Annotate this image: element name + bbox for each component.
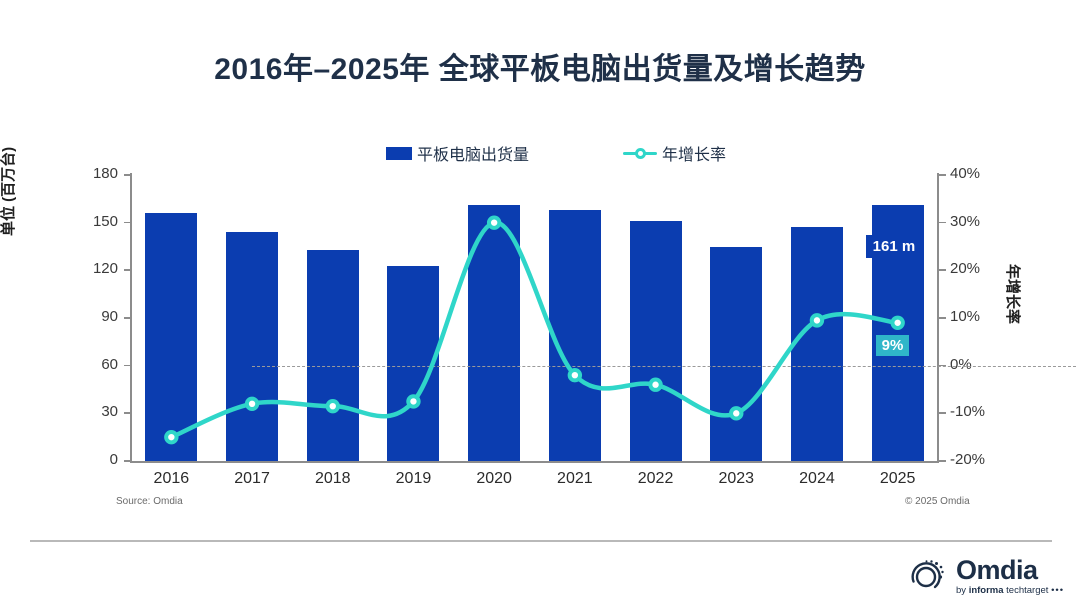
- y-axis-right-tick: [939, 317, 946, 319]
- omdia-logo: Omdia by informa techtarget •••: [905, 552, 1064, 600]
- y-axis-left-title: 单位 (百万台): [0, 147, 18, 236]
- growth-point-2019[interactable]: 2019: -7.5%: [408, 396, 418, 406]
- x-axis-tick-label-2018: 2018: [288, 470, 378, 488]
- y-axis-right-tick: [939, 412, 946, 414]
- chart-page: 2016年–2025年 全球平板电脑出货量及增长趋势 平板电脑出货量 年增长率 …: [0, 0, 1080, 608]
- x-axis-tick-label-2016: 2016: [126, 470, 216, 488]
- growth-point-2020[interactable]: 2020: 30%: [489, 217, 499, 227]
- y-axis-right-tick-label: 20%: [950, 260, 1020, 277]
- y-axis-right-tick: [939, 222, 946, 224]
- growth-point-2017[interactable]: 2017: -8%: [247, 399, 257, 409]
- bar-value-label-2025: 161 m: [866, 235, 923, 258]
- legend-line-swatch-icon: [623, 146, 657, 160]
- x-axis-tick-label-2017: 2017: [207, 470, 297, 488]
- legend-bar-swatch-icon: [386, 147, 412, 160]
- y-axis-left-tick: [124, 317, 131, 319]
- x-axis-tick-label-2025: 2025: [853, 470, 943, 488]
- growth-value-label-2025: 9%: [876, 335, 910, 356]
- y-axis-right-tick-label: -20%: [950, 451, 1020, 468]
- y-axis-left-tick: [124, 365, 131, 367]
- y-axis-left-tick-label: 60: [58, 356, 118, 373]
- legend-item-growth: 年增长率: [623, 141, 726, 165]
- legend-item-shipments: 平板电脑出货量: [386, 141, 529, 165]
- growth-point-2022[interactable]: 2022: -4%: [650, 380, 660, 390]
- y-axis-left-tick-label: 0: [58, 451, 118, 468]
- y-axis-left-tick: [124, 174, 131, 176]
- chart-legend: 平板电脑出货量 年增长率: [386, 140, 806, 166]
- x-axis-tick-label-2019: 2019: [368, 470, 458, 488]
- legend-label-growth: 年增长率: [662, 141, 726, 165]
- growth-point-2018[interactable]: 2018: -8.5%: [328, 401, 338, 411]
- growth-line-layer: 2016: -15%2017: -8%2018: -8.5%2019: -7.5…: [131, 175, 938, 461]
- growth-rate-line: [171, 223, 897, 438]
- omdia-mark-icon: [905, 554, 949, 598]
- y-axis-right-tick-label: 0%: [950, 356, 1020, 373]
- y-axis-right-tick-label: -10%: [950, 403, 1020, 420]
- growth-point-2025[interactable]: 2025: 9%: [892, 318, 902, 328]
- footer-divider: [30, 540, 1052, 542]
- omdia-logo-text: Omdia by informa techtarget •••: [956, 557, 1064, 596]
- x-axis-tick-label-2020: 2020: [449, 470, 539, 488]
- growth-point-2024[interactable]: 2024: 9.5%: [812, 315, 822, 325]
- y-axis-left-tick-label: 120: [58, 260, 118, 277]
- y-axis-left-tick-label: 150: [58, 213, 118, 230]
- y-axis-left-tick: [124, 412, 131, 414]
- y-axis-right-tick: [939, 460, 946, 462]
- growth-point-2021[interactable]: 2021: -2%: [570, 370, 580, 380]
- y-axis-left-tick: [124, 269, 131, 271]
- legend-label-shipments: 平板电脑出货量: [417, 141, 529, 165]
- chart-title: 2016年–2025年 全球平板电脑出货量及增长趋势: [0, 44, 1080, 88]
- y-axis-left-tick-label: 30: [58, 403, 118, 420]
- omdia-tagline: by informa techtarget •••: [956, 586, 1064, 596]
- x-axis-tick-label-2022: 2022: [611, 470, 701, 488]
- y-axis-right-tick-label: 30%: [950, 213, 1020, 230]
- growth-point-2016[interactable]: 2016: -15%: [166, 432, 176, 442]
- y-axis-left-tick-label: 90: [58, 308, 118, 325]
- y-axis-left-tick: [124, 460, 131, 462]
- x-axis-tick-label-2023: 2023: [691, 470, 781, 488]
- omdia-wordmark: Omdia: [956, 557, 1064, 584]
- x-axis-tick-label-2021: 2021: [530, 470, 620, 488]
- x-axis-tick-label-2024: 2024: [772, 470, 862, 488]
- copyright-note: © 2025 Omdia: [905, 496, 970, 507]
- y-axis-left-tick-label: 180: [58, 165, 118, 182]
- growth-point-2023[interactable]: 2023: -10%: [731, 408, 741, 418]
- x-axis-line: [131, 461, 939, 463]
- source-note: Source: Omdia: [116, 496, 183, 507]
- y-axis-left-tick: [124, 222, 131, 224]
- y-axis-right-tick-label: 40%: [950, 165, 1020, 182]
- y-axis-right-tick-label: 10%: [950, 308, 1020, 325]
- y-axis-right-tick: [939, 269, 946, 271]
- y-axis-right-tick: [939, 174, 946, 176]
- plot-area: 2016: -15%2017: -8%2018: -8.5%2019: -7.5…: [131, 175, 938, 461]
